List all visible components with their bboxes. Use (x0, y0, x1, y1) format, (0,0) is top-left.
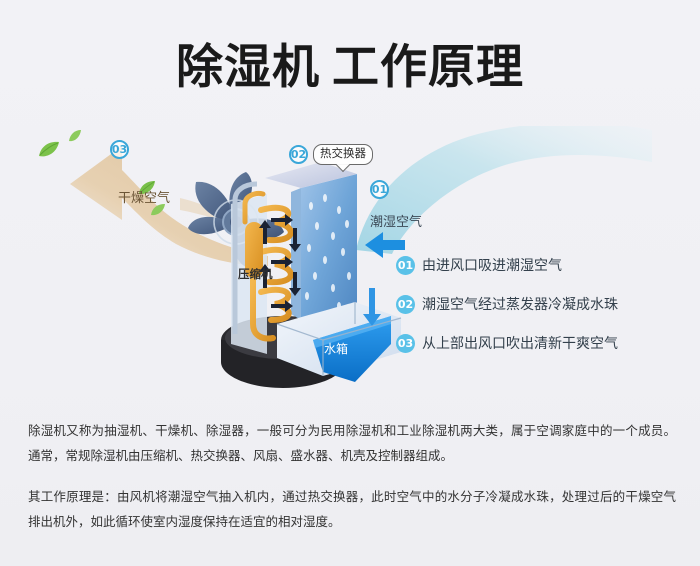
badge-01: 01 (370, 180, 389, 199)
callout-heat-exchanger: 02 热交换器 (289, 144, 373, 165)
page-title-part-b: 工作原理 (332, 40, 524, 95)
heat-exchanger-label: 热交换器 (313, 144, 373, 165)
humid-air-label: 潮湿空气 (370, 211, 422, 230)
page-root: 除湿机工作原理 (0, 0, 700, 566)
water-tank-label: 水箱 (324, 340, 348, 357)
paragraph-1: 除湿机又称为抽湿机、干燥机、除湿器，一般可分为民用除湿机和工业除湿机两大类，属于… (28, 418, 676, 468)
badge-02: 02 (289, 145, 308, 164)
leaf-icon (38, 140, 60, 162)
badge-03: 03 (110, 140, 129, 159)
list-item: 02 潮湿空气经过蒸发器冷凝成水珠 (396, 294, 686, 314)
list-item: 03 从上部出风口吹出清新干爽空气 (396, 333, 686, 353)
page-title: 除湿机工作原理 (0, 28, 700, 97)
callout-dry-air: 03 干燥空气 (110, 140, 170, 206)
paragraph-2: 其工作原理是：由风机将潮湿空气抽入机内，通过热交换器，此时空气中的水分子冷凝成水… (28, 484, 676, 534)
step-badge-01: 01 (396, 256, 415, 275)
compressor-label: 压缩机 (238, 266, 273, 282)
dry-air-label: 干燥空气 (118, 187, 170, 206)
list-item: 01 由进风口吸进潮湿空气 (396, 255, 686, 275)
step-text-01: 由进风口吸进潮湿空气 (422, 255, 562, 275)
callout-humid-air: 01 潮湿空气 (370, 180, 422, 230)
step-text-03: 从上部出风口吹出清新干爽空气 (422, 333, 618, 353)
step-text-02: 潮湿空气经过蒸发器冷凝成水珠 (422, 294, 618, 314)
steps-list: 01 由进风口吸进潮湿空气 02 潮湿空气经过蒸发器冷凝成水珠 03 从上部出风… (396, 255, 686, 372)
page-title-part-a: 除湿机 (176, 40, 320, 95)
leaf-icon (68, 128, 82, 147)
step-badge-03: 03 (396, 334, 415, 353)
description-text: 除湿机又称为抽湿机、干燥机、除湿器，一般可分为民用除湿机和工业除湿机两大类，属于… (28, 418, 676, 543)
step-badge-02: 02 (396, 295, 415, 314)
